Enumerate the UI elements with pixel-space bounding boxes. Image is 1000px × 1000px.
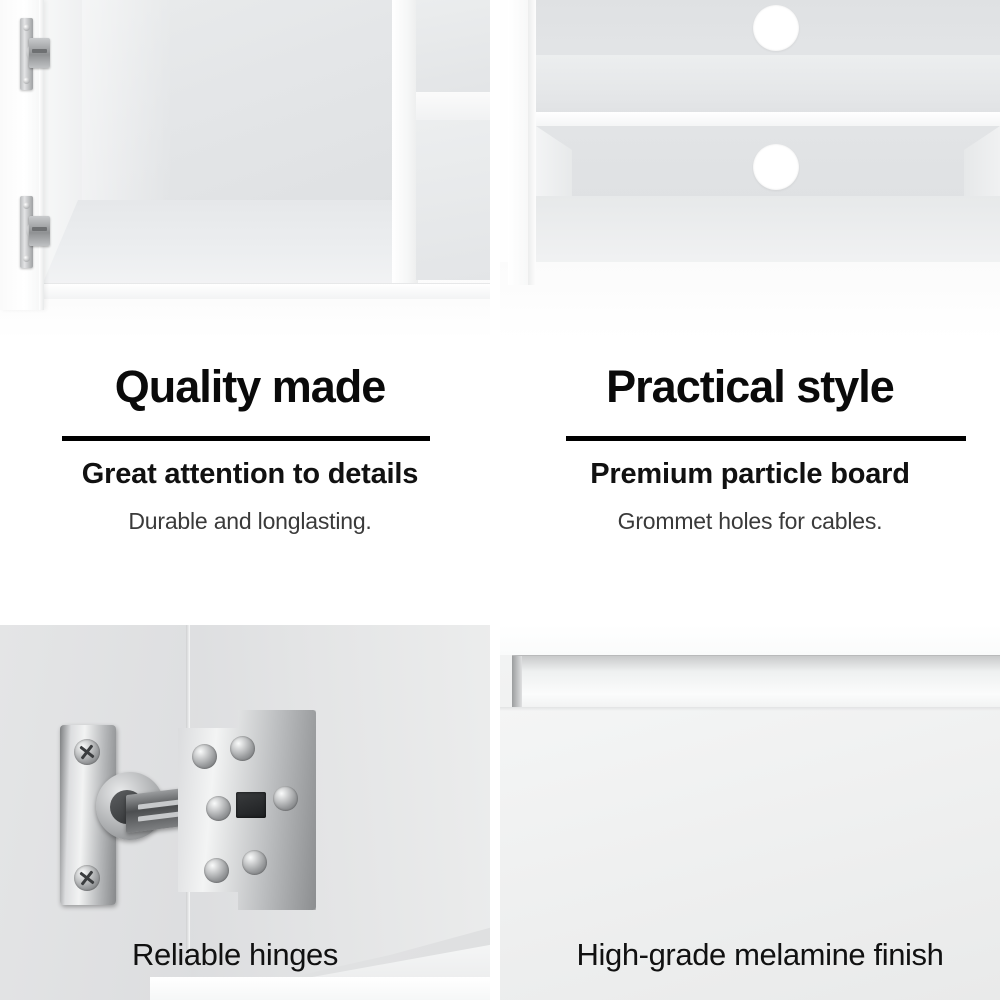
feature-block-practical-style: Practical style Premium particle board G…: [500, 340, 1000, 625]
photo-melamine-finish: High-grade melamine finish: [500, 625, 1000, 1000]
hinge-arm: [29, 216, 50, 246]
cabinet-side-compartment-upper: [416, 0, 490, 100]
feature-subheading: Premium particle board: [500, 458, 1000, 491]
cabinet-back-panel: [78, 0, 396, 207]
hinge-icon-upper: [16, 18, 50, 90]
grommet-hole-icon-bottom: [753, 144, 799, 190]
photo-hinge-closeup: Reliable hinges: [0, 625, 490, 1000]
photo-caption-melamine-finish: High-grade melamine finish: [510, 937, 1000, 973]
shelf-front-edge: [150, 977, 490, 1000]
gutter-top: [490, 0, 500, 340]
cabinet-side-compartment-lower: [416, 120, 490, 280]
shelf-upper-inner: [536, 55, 1000, 117]
feature-note: Durable and longlasting.: [0, 508, 500, 535]
screw-icon: [230, 736, 255, 761]
recessed-groove-handle: [512, 655, 1000, 707]
feature-block-quality-made: Quality made Great attention to details …: [0, 340, 500, 625]
screw-icon: [206, 796, 231, 821]
hinge-icon-detail: [60, 710, 320, 910]
feature-note: Grommet holes for cables.: [500, 508, 1000, 535]
feature-text-band: Quality made Great attention to details …: [0, 340, 1000, 625]
feature-heading: Quality made: [0, 364, 500, 409]
screw-icon: [74, 739, 100, 765]
screw-icon: [204, 858, 229, 883]
hinge-mounting-plate: [178, 710, 316, 910]
shelf-lower-floor: [536, 196, 1000, 266]
feature-divider-rule: [566, 436, 966, 441]
hinge-icon-lower: [16, 196, 50, 268]
cabinet-base: [0, 299, 490, 340]
shelf-bottom-rail: [500, 262, 1000, 340]
cabinet-floor: [42, 200, 396, 285]
cabinet-top-rail: [500, 625, 1000, 655]
feature-divider-rule: [62, 436, 430, 441]
grommet-hole-icon-top: [753, 5, 799, 51]
photo-grommet-shelves: [500, 0, 1000, 340]
feature-heading: Practical style: [500, 364, 1000, 409]
hinge-arm: [29, 38, 50, 68]
cabinet-divider-panel: [392, 0, 418, 290]
screw-icon: [74, 865, 100, 891]
screw-icon: [192, 744, 217, 769]
feature-subheading: Great attention to details: [0, 458, 500, 491]
shelf-left-edge: [528, 0, 536, 285]
photo-caption-reliable-hinges: Reliable hinges: [0, 937, 480, 973]
gutter-bottom: [490, 625, 500, 1000]
infographic-sheet: Quality made Great attention to details …: [0, 0, 1000, 1000]
hinge-adjustment-slot: [236, 792, 266, 818]
screw-icon: [273, 786, 298, 811]
screw-icon: [242, 850, 267, 875]
photo-cabinet-interior: [0, 0, 490, 340]
cabinet-side-shelf: [416, 92, 490, 122]
